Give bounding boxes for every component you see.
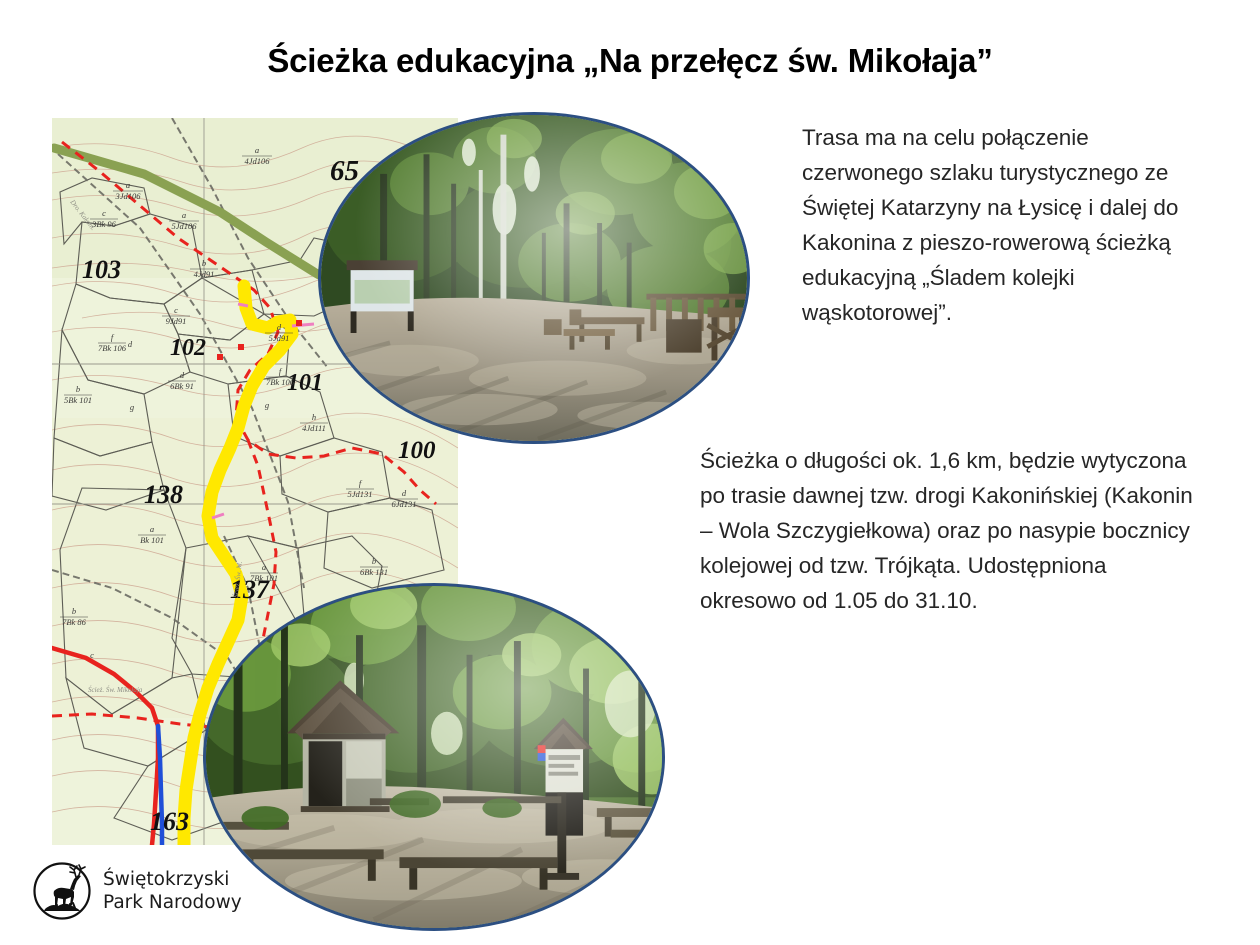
- svg-text:102: 102: [170, 335, 206, 361]
- svg-text:7Bk 86: 7Bk 86: [62, 617, 87, 627]
- svg-text:a: a: [126, 180, 130, 190]
- logo-line-1: Świętokrzyski: [103, 868, 242, 891]
- svg-text:4Jd91: 4Jd91: [194, 269, 215, 279]
- svg-text:5Jd91: 5Jd91: [269, 333, 290, 343]
- svg-text:c: c: [102, 208, 106, 218]
- svg-text:a: a: [150, 524, 154, 534]
- svg-text:a: a: [262, 562, 266, 572]
- svg-text:100: 100: [398, 437, 436, 464]
- svg-text:g: g: [130, 402, 134, 412]
- svg-text:103: 103: [82, 255, 121, 284]
- svg-text:Ścież. Św. Mikołaja: Ścież. Św. Mikołaja: [88, 686, 143, 694]
- logo-line-2: Park Narodowy: [103, 891, 242, 914]
- svg-text:7Bk 101: 7Bk 101: [250, 573, 278, 583]
- svg-text:c: c: [174, 305, 178, 315]
- svg-text:4Jd106: 4Jd106: [244, 156, 270, 166]
- svg-text:163: 163: [150, 807, 189, 836]
- svg-text:Bk 101: Bk 101: [140, 535, 164, 545]
- paragraph-details-text: Ścieżka o długości ok. 1,6 km, będzie wy…: [700, 443, 1200, 618]
- photo-rest-area: [318, 112, 750, 444]
- svg-text:b: b: [72, 606, 76, 616]
- photo-rest-area-image: [321, 115, 747, 441]
- photo-shelter-image: [206, 586, 662, 928]
- svg-text:a: a: [255, 145, 259, 155]
- svg-text:65: 65: [330, 155, 359, 187]
- svg-text:6Jd131: 6Jd131: [391, 499, 416, 509]
- svg-text:4Jd111: 4Jd111: [302, 423, 326, 433]
- page-title: Ścieżka edukacyjna „Na przełęcz św. Miko…: [0, 42, 1260, 80]
- paragraph-details: Ścieżka o długości ok. 1,6 km, będzie wy…: [700, 443, 1200, 618]
- svg-text:5Jd106: 5Jd106: [171, 221, 197, 231]
- svg-text:b: b: [372, 556, 376, 566]
- park-logo: Świętokrzyski Park Narodowy: [32, 855, 262, 927]
- svg-text:6Bk 91: 6Bk 91: [170, 381, 194, 391]
- svg-text:h: h: [312, 412, 316, 422]
- svg-text:7Bk 106: 7Bk 106: [98, 343, 127, 353]
- svg-text:7Bk 106: 7Bk 106: [266, 377, 295, 387]
- svg-text:3Jd106: 3Jd106: [114, 191, 141, 201]
- svg-text:9Jd91: 9Jd91: [166, 316, 187, 326]
- photo-shelter: [203, 583, 665, 931]
- logo-wordmark: Świętokrzyski Park Narodowy: [103, 868, 242, 914]
- deer-in-circle-icon: [32, 861, 92, 921]
- paragraph-route-text: Trasa ma na celu połączenie czerwonego s…: [802, 120, 1194, 330]
- svg-text:g: g: [265, 400, 269, 410]
- svg-text:5Bk 101: 5Bk 101: [64, 395, 92, 405]
- svg-text:5Jd131: 5Jd131: [347, 489, 372, 499]
- svg-text:138: 138: [144, 480, 183, 509]
- paragraph-route: Trasa ma na celu połączenie czerwonego s…: [802, 120, 1194, 330]
- svg-text:c: c: [90, 650, 94, 660]
- svg-text:b: b: [202, 258, 206, 268]
- svg-text:a: a: [182, 210, 186, 220]
- svg-text:b: b: [76, 384, 80, 394]
- svg-text:6Bk 131: 6Bk 131: [360, 567, 388, 577]
